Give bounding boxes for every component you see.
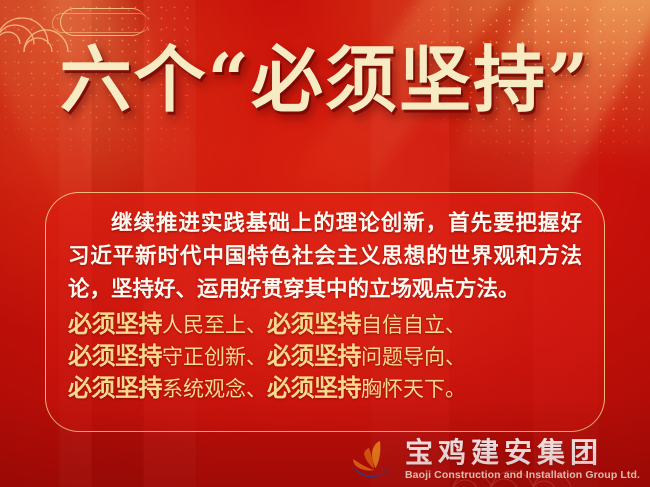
principle-term: 系统观念 xyxy=(162,377,246,401)
principle-keyword: 必须坚持 xyxy=(267,342,361,370)
ribbon-line-ornament xyxy=(60,8,146,36)
company-name-en: Baoji Construction and Installation Grou… xyxy=(405,470,640,481)
poster-title: 六个“必须坚持” xyxy=(0,44,650,116)
content-box: 继续推进实践基础上的理论创新，首先要把握好习近平新时代中国特色社会主义思想的世界… xyxy=(45,192,605,432)
principle-separator: 。 xyxy=(445,377,466,401)
principle-keyword: 必须坚持 xyxy=(68,310,162,338)
principle-separator: 、 xyxy=(246,313,267,337)
principle-separator: 、 xyxy=(246,377,267,401)
body-paragraph: 继续推进实践基础上的理论创新，首先要把握好习近平新时代中国特色社会主义思想的世界… xyxy=(68,207,582,306)
poster-canvas: 六个“必须坚持” 继续推进实践基础上的理论创新，首先要把握好习近平新时代中国特色… xyxy=(0,0,650,487)
principle-term: 问题导向 xyxy=(361,345,445,369)
principle-term: 胸怀天下 xyxy=(361,377,445,401)
sail-flame-icon xyxy=(350,439,396,481)
principle-line: 必须坚持人民至上、必须坚持自信自立、 xyxy=(68,309,582,341)
principle-term: 自信自立 xyxy=(361,313,445,337)
principle-separator: 、 xyxy=(445,313,466,337)
logo-text-block: 宝鸡建安集团 Baoji Construction and Installati… xyxy=(405,439,640,481)
principle-keyword: 必须坚持 xyxy=(267,374,361,402)
principles-list: 必须坚持人民至上、必须坚持自信自立、 必须坚持守正创新、必须坚持问题导向、 必须… xyxy=(68,309,582,405)
principle-separator: 、 xyxy=(445,345,466,369)
principle-line: 必须坚持守正创新、必须坚持问题导向、 xyxy=(68,341,582,373)
principle-keyword: 必须坚持 xyxy=(68,342,162,370)
principle-term: 守正创新 xyxy=(162,345,246,369)
principle-term: 人民至上 xyxy=(162,313,246,337)
principle-keyword: 必须坚持 xyxy=(267,310,361,338)
company-logo: 宝鸡建安集团 Baoji Construction and Installati… xyxy=(350,439,640,481)
principle-line: 必须坚持系统观念、必须坚持胸怀天下。 xyxy=(68,373,582,405)
principle-separator: 、 xyxy=(246,345,267,369)
principle-keyword: 必须坚持 xyxy=(68,374,162,402)
company-name-cn: 宝鸡建安集团 xyxy=(405,439,640,467)
ribbon-line-ornament-inner xyxy=(52,13,149,33)
